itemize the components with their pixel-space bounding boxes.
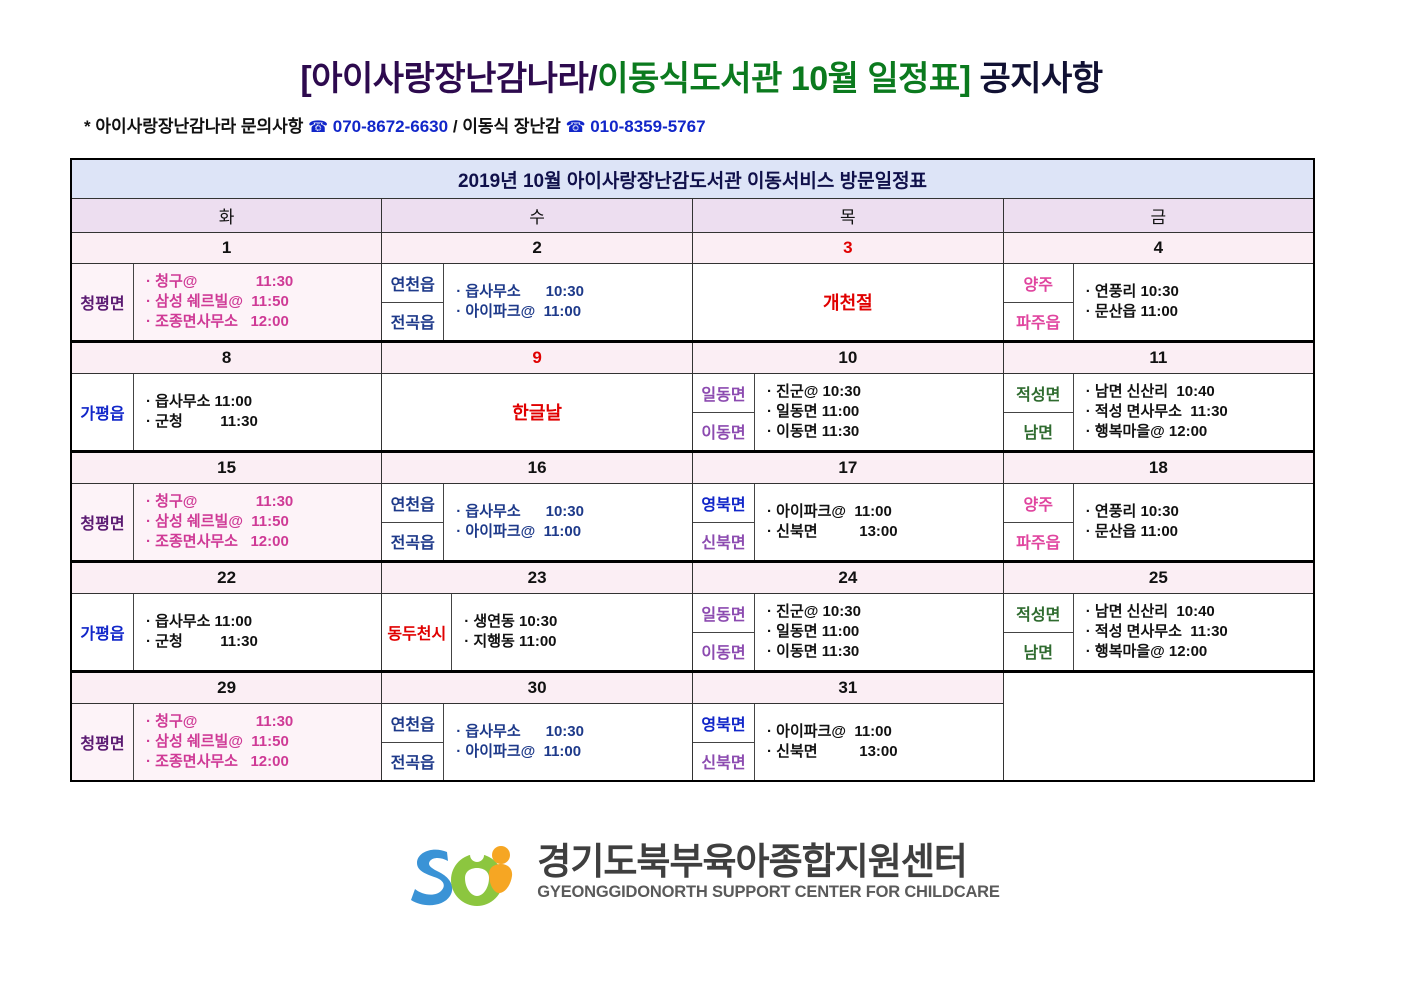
cell-content: 적성면남면· 남면 신산리 10:40· 적성 면사무소 11:30· 행복마을… [1004,374,1313,450]
schedule-row-1: 가평읍· 읍사무소 11:00· 군청 11:30한글날일동면이동면· 진군@ … [71,374,1314,452]
logo-korean-name: 경기도북부육아종합지원센터 [537,843,967,880]
date-cell-16: 16 [382,452,693,484]
schedule-cell[interactable]: 양주파주읍· 연풍리 10:30· 문산읍 11:00 [1003,264,1314,342]
visit-item-list: · 아이파크@ 11:00· 신북면 13:00 [755,704,1003,780]
weekday-header-row: 화수목금 [71,199,1314,233]
visit-item: · 조종면사무소 12:00 [146,532,381,552]
visit-item: · 생연동 10:30 [464,612,692,632]
schedule-cell[interactable]: 청평면· 청구@ 11:30· 삼성 쉐르빌@ 11:50· 조종면사무소 12… [71,484,382,562]
visit-item: · 남면 신산리 10:40 [1086,382,1313,402]
visit-item: · 신북면 13:00 [767,742,1003,762]
region-label-column: 양주파주읍 [1004,484,1074,560]
cell-content: 연천읍전곡읍· 읍사무소 10:30· 아이파크@ 11:00 [382,484,692,560]
visit-item: · 진군@ 10:30 [767,382,1003,402]
visit-item: · 진군@ 10:30 [767,602,1003,622]
date-cell-4: 4 [1003,233,1314,264]
date-cell-8: 8 [71,342,382,374]
schedule-table-body: 2019년 10월 아이사랑장난감도서관 이동서비스 방문일정표화수목금1234… [71,159,1314,781]
schedule-table: 2019년 10월 아이사랑장난감도서관 이동서비스 방문일정표화수목금1234… [70,158,1315,782]
region-label-column: 동두천시 [382,594,452,670]
date-cell-25: 25 [1003,562,1314,594]
table-caption-row: 2019년 10월 아이사랑장난감도서관 이동서비스 방문일정표 [71,159,1314,199]
date-row-3: 22232425 [71,562,1314,594]
region-label: 적성면 [1004,374,1073,412]
region-label-column: 청평면 [72,704,134,780]
weekday-header-3: 금 [1003,199,1314,233]
region-label-column: 가평읍 [72,594,134,670]
visit-item: · 아이파크@ 11:00 [767,722,1003,742]
visit-item-list: · 진군@ 10:30· 일동면 11:00· 이동면 11:30 [755,594,1003,670]
schedule-cell[interactable]: 한글날 [382,374,693,452]
schedule-cell[interactable] [1003,704,1314,782]
visit-item: · 남면 신산리 10:40 [1086,602,1313,622]
schedule-row-2: 청평면· 청구@ 11:30· 삼성 쉐르빌@ 11:50· 조종면사무소 12… [71,484,1314,562]
cell-content: 가평읍· 읍사무소 11:00· 군청 11:30 [72,374,381,450]
schedule-cell[interactable]: 가평읍· 읍사무소 11:00· 군청 11:30 [71,374,382,452]
region-label: 연천읍 [382,704,443,742]
date-cell-15: 15 [71,452,382,484]
region-label-column: 양주파주읍 [1004,264,1074,340]
date-cell-9: 9 [382,342,693,374]
region-label: 일동면 [693,374,754,412]
date-cell-2: 2 [382,233,693,264]
visit-item-list: · 읍사무소 11:00· 군청 11:30 [134,374,381,450]
visit-item: · 신북면 13:00 [767,522,1003,542]
date-cell-22: 22 [71,562,382,594]
cell-content: 청평면· 청구@ 11:30· 삼성 쉐르빌@ 11:50· 조종면사무소 12… [72,704,381,780]
visit-item-list: · 청구@ 11:30· 삼성 쉐르빌@ 11:50· 조종면사무소 12:00 [134,264,381,340]
visit-item-list: · 읍사무소 10:30· 아이파크@ 11:00 [444,484,692,560]
region-label-column: 적성면남면 [1004,594,1074,670]
visit-item: · 아이파크@ 11:00 [456,302,692,322]
region-label: 연천읍 [382,264,443,302]
visit-item: · 일동면 11:00 [767,402,1003,422]
cell-content: 연천읍전곡읍· 읍사무소 10:30· 아이파크@ 11:00 [382,704,692,780]
date-row-2: 15161718 [71,452,1314,484]
cell-content: 일동면이동면· 진군@ 10:30· 일동면 11:00· 이동면 11:30 [693,594,1003,670]
region-label: 청평면 [72,264,133,340]
region-label-column: 적성면남면 [1004,374,1074,450]
empty-cell [1004,704,1313,781]
date-cell-11: 11 [1003,342,1314,374]
date-cell-29: 29 [71,672,382,704]
visit-item-list: · 읍사무소 11:00· 군청 11:30 [134,594,381,670]
visit-item: · 읍사무소 10:30 [456,722,692,742]
region-label: 신북면 [693,742,754,781]
region-label: 전곡읍 [382,522,443,561]
date-cell-17: 17 [693,452,1004,484]
date-cell-1: 1 [71,233,382,264]
region-label: 영북면 [693,704,754,742]
contact-separator: / 이동식 장난감 [448,117,565,136]
visit-item: · 이동면 11:30 [767,642,1003,662]
date-cell-18: 18 [1003,452,1314,484]
visit-item: · 청구@ 11:30 [146,272,381,292]
visit-item: · 군청 11:30 [146,632,381,652]
region-label: 양주 [1004,484,1073,522]
schedule-cell[interactable]: 연천읍전곡읍· 읍사무소 10:30· 아이파크@ 11:00 [382,484,693,562]
visit-item: · 청구@ 11:30 [146,492,381,512]
schedule-cell[interactable]: 일동면이동면· 진군@ 10:30· 일동면 11:00· 이동면 11:30 [693,374,1004,452]
visit-item: · 이동면 11:30 [767,422,1003,442]
cell-content: 가평읍· 읍사무소 11:00· 군청 11:30 [72,594,381,670]
region-label-column: 연천읍전곡읍 [382,704,444,780]
visit-item: · 청구@ 11:30 [146,712,381,732]
region-label-column: 청평면 [72,264,134,340]
region-label: 청평면 [72,704,133,780]
cell-content: 청평면· 청구@ 11:30· 삼성 쉐르빌@ 11:50· 조종면사무소 12… [72,484,381,560]
center-logo-icon [403,838,523,910]
visit-item: · 읍사무소 10:30 [456,502,692,522]
region-label: 양주 [1004,264,1073,302]
logo-english-name: GYEONGGIDONORTH SUPPORT CENTER FOR CHILD… [537,880,999,905]
footer-logo: 경기도북부육아종합지원센터 GYEONGGIDONORTH SUPPORT CE… [0,838,1403,910]
visit-item: · 아이파크@ 11:00 [456,742,692,762]
region-label: 남면 [1004,412,1073,451]
schedule-cell[interactable]: 연천읍전곡읍· 읍사무소 10:30· 아이파크@ 11:00 [382,704,693,782]
region-label-column: 일동면이동면 [693,594,755,670]
visit-item-list: · 청구@ 11:30· 삼성 쉐르빌@ 11:50· 조종면사무소 12:00 [134,704,381,780]
telephone-icon-2: ☎ [566,119,586,136]
date-row-0: 1234 [71,233,1314,264]
date-cell-empty [1003,672,1314,704]
cell-content: 영북면신북면· 아이파크@ 11:00· 신북면 13:00 [693,704,1003,780]
table-caption: 2019년 10월 아이사랑장난감도서관 이동서비스 방문일정표 [71,159,1314,199]
schedule-cell[interactable]: 적성면남면· 남면 신산리 10:40· 적성 면사무소 11:30· 행복마을… [1003,374,1314,452]
schedule-cell[interactable]: 가평읍· 읍사무소 11:00· 군청 11:30 [71,594,382,672]
visit-item: · 연풍리 10:30 [1086,282,1313,302]
visit-item: · 군청 11:30 [146,412,381,432]
region-label: 이동면 [693,412,754,451]
telephone-icon: ☎ [308,119,328,136]
date-row-4: 293031 [71,672,1314,704]
cell-content: 양주파주읍· 연풍리 10:30· 문산읍 11:00 [1004,484,1313,560]
schedule-table-wrapper: 2019년 10월 아이사랑장난감도서관 이동서비스 방문일정표화수목금1234… [70,158,1315,782]
region-label: 남면 [1004,632,1073,671]
page-title-part1: [아이사랑장난감나라/ [300,60,597,98]
region-label-column: 일동면이동면 [693,374,755,450]
visit-item: · 행복마을@ 12:00 [1086,642,1313,662]
visit-item-list: · 진군@ 10:30· 일동면 11:00· 이동면 11:30 [755,374,1003,450]
weekday-header-1: 수 [382,199,693,233]
region-label: 일동면 [693,594,754,632]
holiday-label: 한글날 [382,374,692,450]
date-cell-30: 30 [382,672,693,704]
contact-phone-mobile: 010-8359-5767 [586,117,706,136]
page-title: [아이사랑장난감나라/이동식도서관 10월 일정표] 공지사항 [0,0,1403,98]
region-label: 전곡읍 [382,742,443,781]
cell-content: 연천읍전곡읍· 읍사무소 10:30· 아이파크@ 11:00 [382,264,692,340]
visit-item-list: · 남면 신산리 10:40· 적성 면사무소 11:30· 행복마을@ 12:… [1074,374,1313,450]
visit-item: · 조종면사무소 12:00 [146,752,381,772]
cell-content: 청평면· 청구@ 11:30· 삼성 쉐르빌@ 11:50· 조종면사무소 12… [72,264,381,340]
region-label: 파주읍 [1004,302,1073,341]
schedule-row-3: 가평읍· 읍사무소 11:00· 군청 11:30동두천시· 생연동 10:30… [71,594,1314,672]
region-label-column: 청평면 [72,484,134,560]
region-label: 적성면 [1004,594,1073,632]
weekday-header-0: 화 [71,199,382,233]
visit-item: · 삼성 쉐르빌@ 11:50 [146,732,381,752]
region-label: 전곡읍 [382,302,443,341]
contact-line: * 아이사랑장난감나라 문의사항 ☎ 070-8672-6630 / 이동식 장… [0,98,1403,137]
schedule-row-4: 청평면· 청구@ 11:30· 삼성 쉐르빌@ 11:50· 조종면사무소 12… [71,704,1314,782]
visit-item: · 삼성 쉐르빌@ 11:50 [146,512,381,532]
visit-item: · 읍사무소 11:00 [146,612,381,632]
schedule-cell[interactable]: 일동면이동면· 진군@ 10:30· 일동면 11:00· 이동면 11:30 [693,594,1004,672]
date-cell-3: 3 [693,233,1004,264]
schedule-cell[interactable]: 청평면· 청구@ 11:30· 삼성 쉐르빌@ 11:50· 조종면사무소 12… [71,264,382,342]
region-label: 파주읍 [1004,522,1073,561]
visit-item-list: · 남면 신산리 10:40· 적성 면사무소 11:30· 행복마을@ 12:… [1074,594,1313,670]
date-cell-31: 31 [693,672,1004,704]
date-cell-23: 23 [382,562,693,594]
holiday-label: 개천절 [693,264,1003,340]
region-label: 청평면 [72,484,133,560]
schedule-cell[interactable]: 동두천시· 생연동 10:30· 지행동 11:00 [382,594,693,672]
date-cell-24: 24 [693,562,1004,594]
visit-item: · 문산읍 11:00 [1086,302,1313,322]
page-title-part2: 이동식도서관 10월 일정표] [597,60,970,98]
schedule-cell[interactable]: 영북면신북면· 아이파크@ 11:00· 신북면 13:00 [693,484,1004,562]
schedule-cell[interactable]: 개천절 [693,264,1004,342]
schedule-cell[interactable]: 영북면신북면· 아이파크@ 11:00· 신북면 13:00 [693,704,1004,782]
visit-item: · 일동면 11:00 [767,622,1003,642]
visit-item-list: · 연풍리 10:30· 문산읍 11:00 [1074,484,1313,560]
visit-item: · 행복마을@ 12:00 [1086,422,1313,442]
region-label: 가평읍 [72,374,133,450]
visit-item-list: · 아이파크@ 11:00· 신북면 13:00 [755,484,1003,560]
region-label: 영북면 [693,484,754,522]
schedule-cell[interactable]: 청평면· 청구@ 11:30· 삼성 쉐르빌@ 11:50· 조종면사무소 12… [71,704,382,782]
visit-item-list: · 연풍리 10:30· 문산읍 11:00 [1074,264,1313,340]
region-label-column: 연천읍전곡읍 [382,264,444,340]
visit-item: · 읍사무소 11:00 [146,392,381,412]
region-label-column: 가평읍 [72,374,134,450]
region-label-column: 영북면신북면 [693,704,755,780]
schedule-cell[interactable]: 적성면남면· 남면 신산리 10:40· 적성 면사무소 11:30· 행복마을… [1003,594,1314,672]
schedule-row-0: 청평면· 청구@ 11:30· 삼성 쉐르빌@ 11:50· 조종면사무소 12… [71,264,1314,342]
visit-item-list: · 읍사무소 10:30· 아이파크@ 11:00 [444,704,692,780]
region-label: 이동면 [693,632,754,671]
region-label: 동두천시 [382,594,451,670]
visit-item: · 적성 면사무소 11:30 [1086,622,1313,642]
visit-item: · 아이파크@ 11:00 [456,522,692,542]
schedule-page: [아이사랑장난감나라/이동식도서관 10월 일정표] 공지사항 * 아이사랑장난… [0,0,1403,992]
visit-item: · 지행동 11:00 [464,632,692,652]
visit-item-list: · 읍사무소 10:30· 아이파크@ 11:00 [444,264,692,340]
visit-item: · 읍사무소 10:30 [456,282,692,302]
contact-prefix: * 아이사랑장난감나라 문의사항 [84,117,308,136]
visit-item: · 조종면사무소 12:00 [146,312,381,332]
visit-item: · 적성 면사무소 11:30 [1086,402,1313,422]
page-title-part3: 공지사항 [971,60,1103,98]
date-cell-10: 10 [693,342,1004,374]
cell-content: 일동면이동면· 진군@ 10:30· 일동면 11:00· 이동면 11:30 [693,374,1003,450]
region-label-column: 영북면신북면 [693,484,755,560]
cell-content: 동두천시· 생연동 10:30· 지행동 11:00 [382,594,692,670]
date-row-1: 891011 [71,342,1314,374]
region-label: 가평읍 [72,594,133,670]
region-label: 연천읍 [382,484,443,522]
visit-item-list: · 청구@ 11:30· 삼성 쉐르빌@ 11:50· 조종면사무소 12:00 [134,484,381,560]
cell-content: 영북면신북면· 아이파크@ 11:00· 신북면 13:00 [693,484,1003,560]
contact-phone-toylibrary: 070-8672-6630 [328,117,448,136]
visit-item-list: · 생연동 10:30· 지행동 11:00 [452,594,692,670]
weekday-header-2: 목 [693,199,1004,233]
visit-item: · 아이파크@ 11:00 [767,502,1003,522]
schedule-cell[interactable]: 연천읍전곡읍· 읍사무소 10:30· 아이파크@ 11:00 [382,264,693,342]
schedule-cell[interactable]: 양주파주읍· 연풍리 10:30· 문산읍 11:00 [1003,484,1314,562]
visit-item: · 문산읍 11:00 [1086,522,1313,542]
region-label: 신북면 [693,522,754,561]
cell-content: 양주파주읍· 연풍리 10:30· 문산읍 11:00 [1004,264,1313,340]
visit-item: · 연풍리 10:30 [1086,502,1313,522]
region-label-column: 연천읍전곡읍 [382,484,444,560]
logo-text-block: 경기도북부육아종합지원센터 GYEONGGIDONORTH SUPPORT CE… [537,843,999,905]
visit-item: · 삼성 쉐르빌@ 11:50 [146,292,381,312]
cell-content: 적성면남면· 남면 신산리 10:40· 적성 면사무소 11:30· 행복마을… [1004,594,1313,670]
